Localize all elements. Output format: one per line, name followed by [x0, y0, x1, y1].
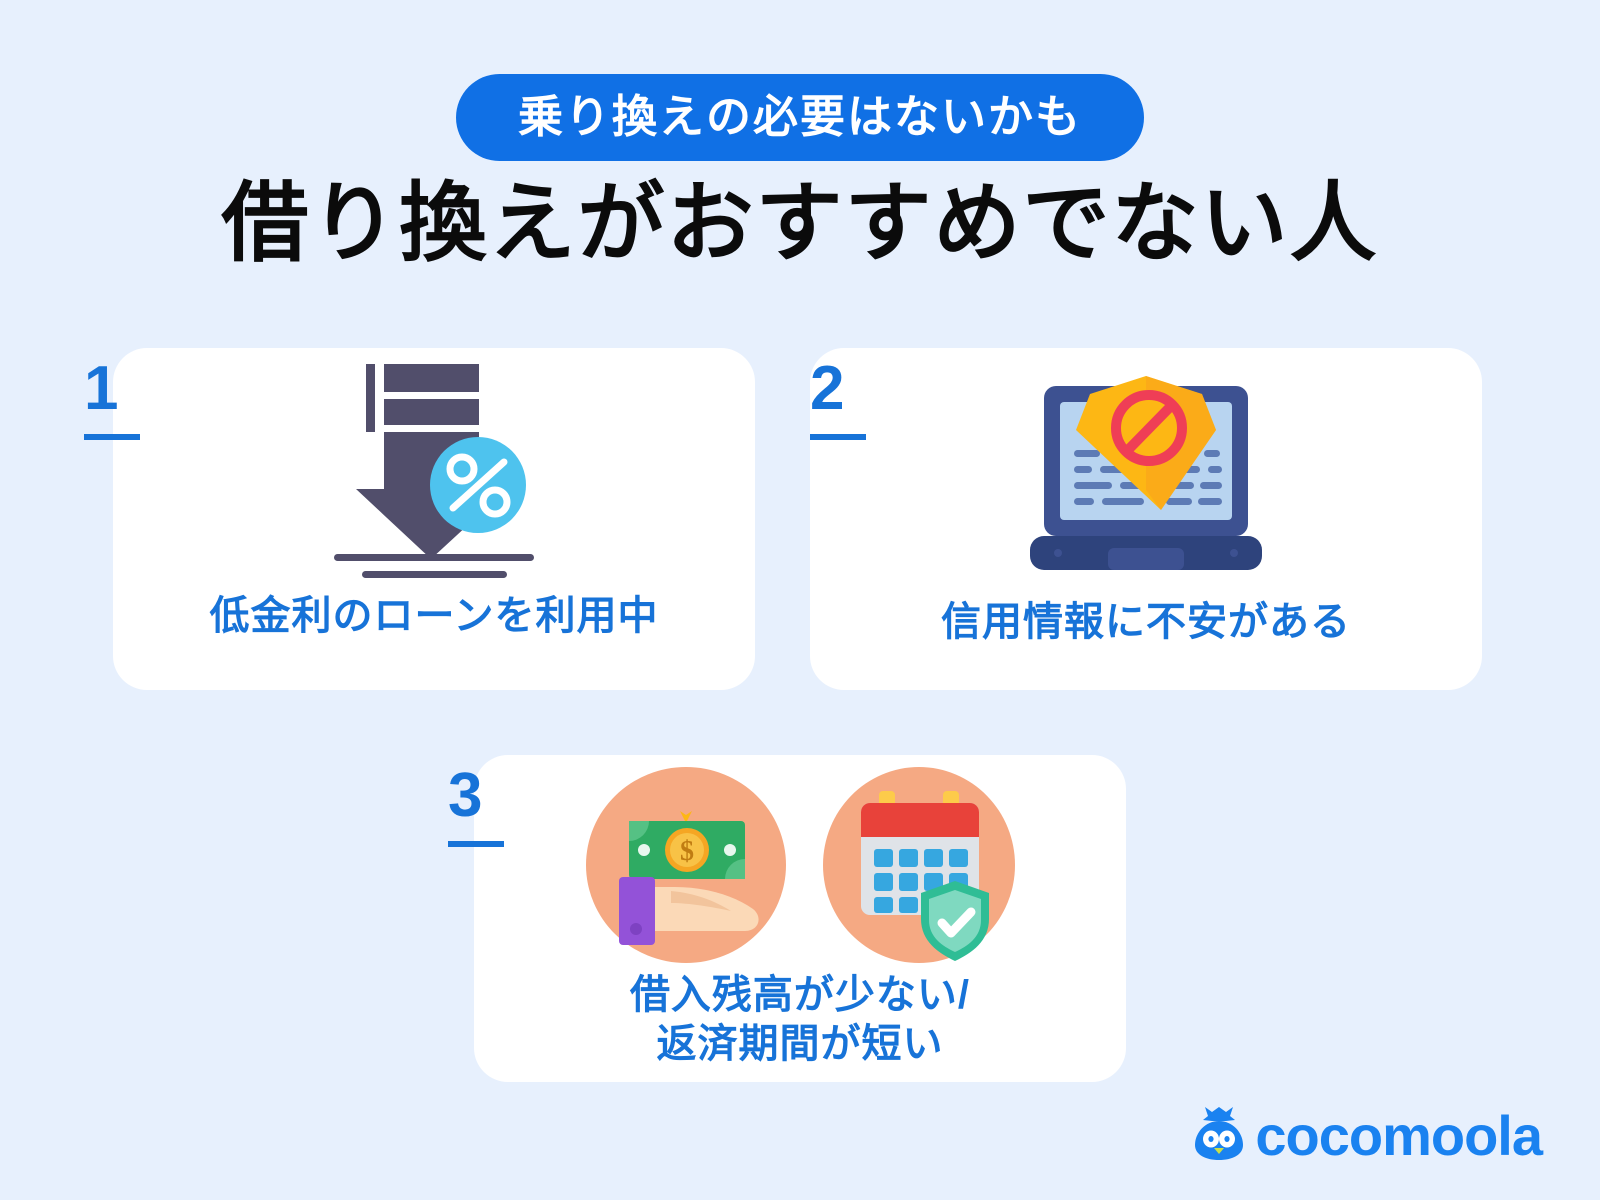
logo-text: cocomoola	[1255, 1108, 1542, 1164]
money-in-hand-icon: $	[581, 765, 791, 965]
card-low-interest-loan[interactable]: 低金利のローンを利用中	[113, 348, 755, 690]
card-number-1: 1	[84, 358, 140, 440]
card-number-2: 2	[810, 358, 866, 440]
card-number-value: 2	[810, 358, 866, 420]
money-hand-calendar-shield-icon: $	[474, 765, 1126, 965]
down-arrow-percent-icon	[113, 354, 755, 582]
card-label: 信用情報に不安がある	[810, 598, 1482, 647]
laptop-blocked-icon	[810, 356, 1482, 584]
card-number-underline	[84, 434, 140, 440]
page-title: 借り換えがおすすめでない人	[0, 175, 1600, 272]
card-number-value: 1	[84, 358, 140, 420]
card-label: 低金利のローンを利用中	[113, 592, 755, 641]
header: 乗り換えの必要はないかも 借り換えがおすすめでない人	[0, 0, 1600, 272]
card-label: 借入残高が少ない/ 返済期間が短い	[474, 971, 1126, 1069]
money-bag-mascot-icon	[1193, 1105, 1245, 1166]
brand-logo[interactable]: cocomoola	[1193, 1105, 1542, 1166]
card-number-underline	[810, 434, 866, 440]
card-number-value: 3	[448, 765, 504, 827]
card-number-underline	[448, 841, 504, 847]
card-credit-info-concern[interactable]: 信用情報に不安がある	[810, 348, 1482, 690]
header-badge: 乗り換えの必要はないかも	[456, 74, 1144, 161]
svg-text:$: $	[680, 836, 694, 867]
card-low-balance-short-term[interactable]: $	[474, 755, 1126, 1082]
calendar-shield-icon	[819, 765, 1019, 965]
card-number-3: 3	[448, 765, 504, 847]
